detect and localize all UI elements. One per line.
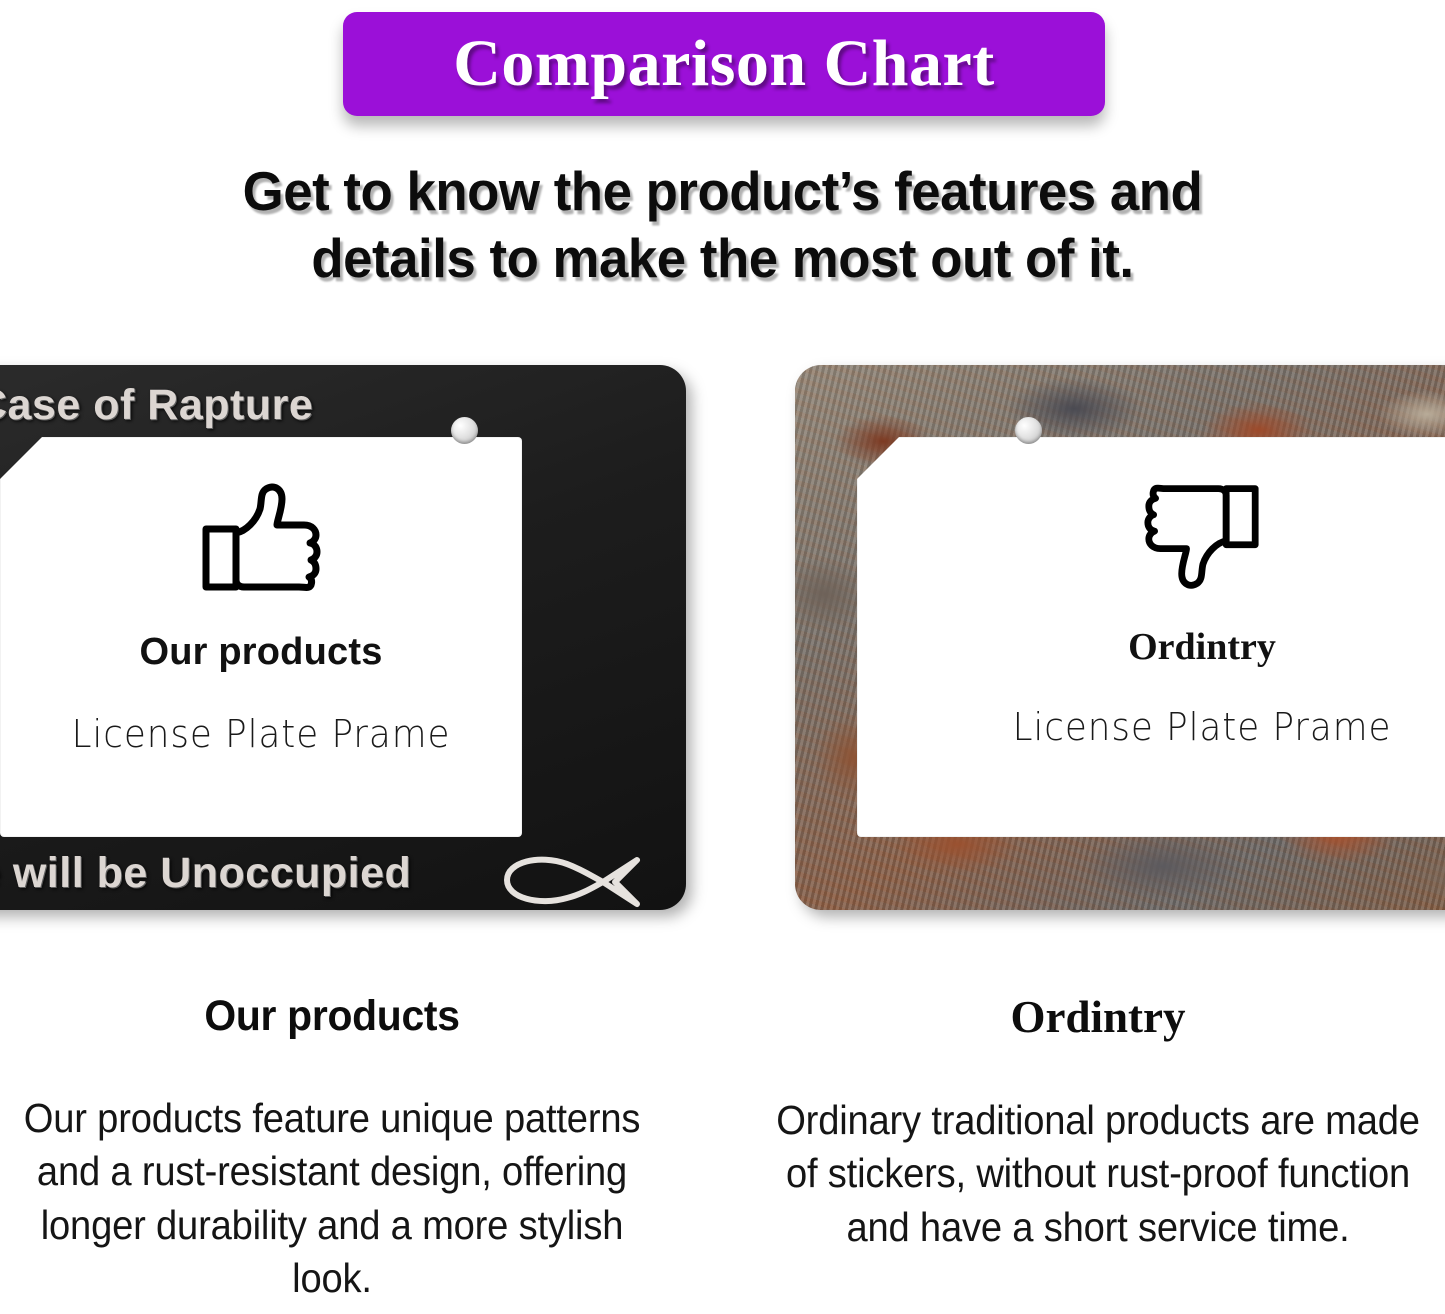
window-subtitle-ordinary: License Plate Prame	[878, 705, 1445, 749]
window-subtitle-ours: License Plate Prame	[16, 712, 507, 756]
mounting-hole	[1015, 417, 1042, 444]
mounting-hole	[451, 417, 478, 444]
plate-top-engraved-text: Case of Rapture	[0, 381, 313, 430]
description-body-ordinary: Ordinary traditional products are made o…	[773, 1094, 1424, 1254]
window-content-ours: Our products License Plate Prame	[0, 481, 522, 756]
description-column-ordinary: Ordintry Ordinary traditional products a…	[748, 995, 1445, 1254]
product-frame-ordinary: Ordintry License Plate Prame	[795, 365, 1445, 910]
plate-window-ours: Our products License Plate Prame	[0, 437, 522, 837]
product-frame-ours: Case of Rapture e will be Unoccupied Our…	[0, 365, 686, 910]
thumbs-down-icon	[1143, 477, 1261, 595]
window-title-ours: Our products	[0, 631, 522, 674]
ichthys-fish-icon	[499, 852, 647, 908]
plate-window-ordinary: Ordintry License Plate Prame	[857, 437, 1445, 837]
plate-bottom-engraved-text: e will be Unoccupied	[0, 849, 411, 898]
description-column-ours: Our products Our products feature unique…	[0, 995, 682, 1305]
thumbs-up-icon	[200, 481, 322, 595]
window-title-ordinary: Ordintry	[857, 625, 1445, 669]
description-heading-ordinary: Ordintry	[748, 995, 1445, 1040]
description-body-ours: Our products feature unique patterns and…	[7, 1092, 658, 1305]
window-content-ordinary: Ordintry License Plate Prame	[857, 477, 1445, 749]
description-heading-ours: Our products	[0, 995, 665, 1038]
